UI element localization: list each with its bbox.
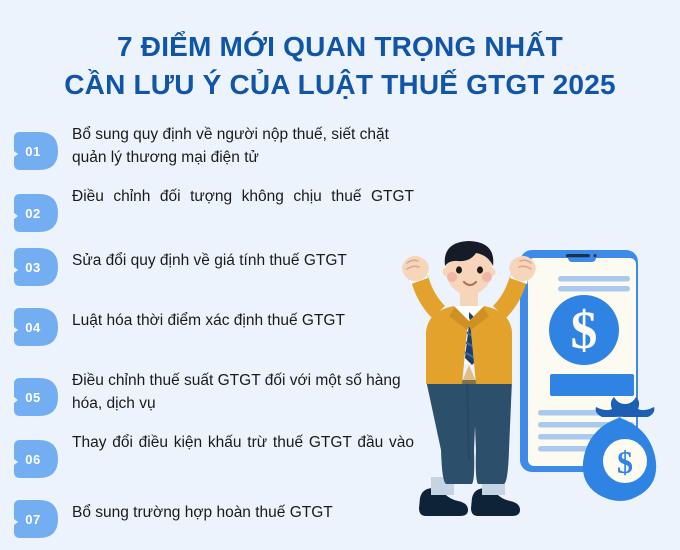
list-item: 05 Điều chỉnh thuế suất GTGT đối với một… (14, 368, 414, 416)
item-number: 02 (14, 194, 52, 232)
list-item: 01 Bổ sung quy định về người nộp thuế, s… (14, 122, 414, 170)
key-points-list: 01 Bổ sung quy định về người nộp thuế, s… (14, 122, 414, 548)
man-figure (402, 241, 536, 516)
item-number: 07 (14, 500, 52, 538)
head (443, 241, 496, 295)
item-number-badge: 06 (14, 440, 58, 478)
item-text: Bổ sung trường hợp hoàn thuế GTGT (72, 500, 414, 524)
item-number: 03 (14, 248, 52, 286)
left-fist (402, 256, 429, 281)
item-text: Điều chỉnh đối tượng không chịu thuế GTG… (72, 184, 414, 232)
list-item: 06 Thay đổi điều kiện khấu trừ thuế GTGT… (14, 430, 414, 478)
item-text: Bổ sung quy định về người nộp thuế, siết… (72, 122, 414, 170)
item-number: 06 (14, 440, 52, 478)
page-title-line-1: 7 ĐIỂM MỚI QUAN TRỌNG NHẤT (0, 28, 680, 66)
item-text: Thay đổi điều kiện khấu trừ thuế GTGT đầ… (72, 430, 414, 478)
item-text: Sửa đổi quy định về giá tính thuế GTGT (72, 248, 414, 272)
item-number-badge: 05 (14, 378, 58, 416)
item-number-badge: 07 (14, 500, 58, 538)
item-number-badge: 04 (14, 308, 58, 346)
dollar-circle-icon: $ (549, 295, 619, 365)
item-text: Điều chỉnh thuế suất GTGT đối với một số… (72, 368, 414, 416)
item-number: 01 (14, 132, 52, 170)
item-number-badge: 03 (14, 248, 58, 286)
list-item: 02 Điều chỉnh đối tượng không chịu thuế … (14, 184, 414, 232)
list-item: 07 Bổ sung trường hợp hoàn thuế GTGT (14, 500, 414, 538)
page-title: 7 ĐIỂM MỚI QUAN TRỌNG NHẤT CẦN LƯU Ý CỦA… (0, 0, 680, 104)
list-item: 03 Sửa đổi quy định về giá tính thuế GTG… (14, 248, 414, 286)
illustration: $ $ (398, 232, 680, 532)
item-number-badge: 02 (14, 194, 58, 232)
svg-text:$: $ (617, 444, 633, 480)
list-item: 04 Luật hóa thời điểm xác định thuế GTGT (14, 308, 414, 346)
item-number: 05 (14, 378, 52, 416)
item-text: Luật hóa thời điểm xác định thuế GTGT (72, 308, 414, 332)
item-number: 04 (14, 308, 52, 346)
page-title-line-2: CẦN LƯU Ý CỦA LUẬT THUẾ GTGT 2025 (0, 66, 680, 104)
svg-text:$: $ (571, 300, 598, 360)
item-number-badge: 01 (14, 132, 58, 170)
